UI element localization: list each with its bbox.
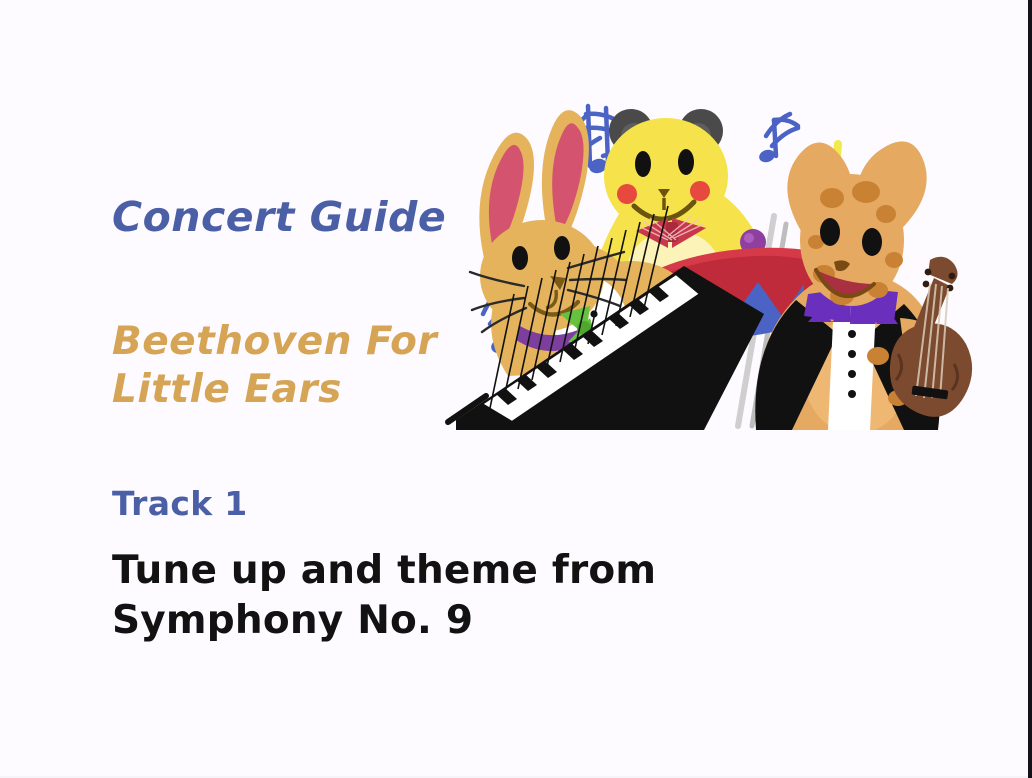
- cartoon-animal-band-illustration: [438, 46, 998, 430]
- track-number-label: Track 1: [112, 484, 752, 523]
- page-subtitle: Beethoven For Little Ears: [112, 318, 437, 413]
- track-title: Tune up and theme from Symphony No. 9: [112, 546, 656, 646]
- violin-scroll: [928, 257, 958, 284]
- track-group: Track 1 Tune up and theme from Symphony …: [112, 484, 752, 523]
- music-note-icon: [766, 114, 798, 156]
- frame-right-edge: [1028, 0, 1032, 778]
- track-title-line1: Tune up and theme from: [112, 548, 656, 593]
- violin: [890, 257, 972, 417]
- slide-screen: Concert Guide Beethoven For Little Ears …: [0, 0, 1032, 778]
- bear-cheek-left: [617, 184, 637, 204]
- page-subtitle-line1: Beethoven For: [112, 319, 437, 364]
- page-subtitle-line2: Little Ears: [112, 367, 342, 412]
- track-title-line2: Symphony No. 9: [112, 598, 473, 643]
- giraffe-eye-right: [862, 228, 882, 256]
- bear-eye-right: [678, 149, 694, 175]
- rabbit-eye-right: [554, 236, 570, 260]
- bear-eye-left: [635, 151, 651, 177]
- bear-cheek-right: [690, 181, 710, 201]
- giraffe-eye-left: [820, 218, 840, 246]
- rabbit-eye-left: [512, 246, 528, 270]
